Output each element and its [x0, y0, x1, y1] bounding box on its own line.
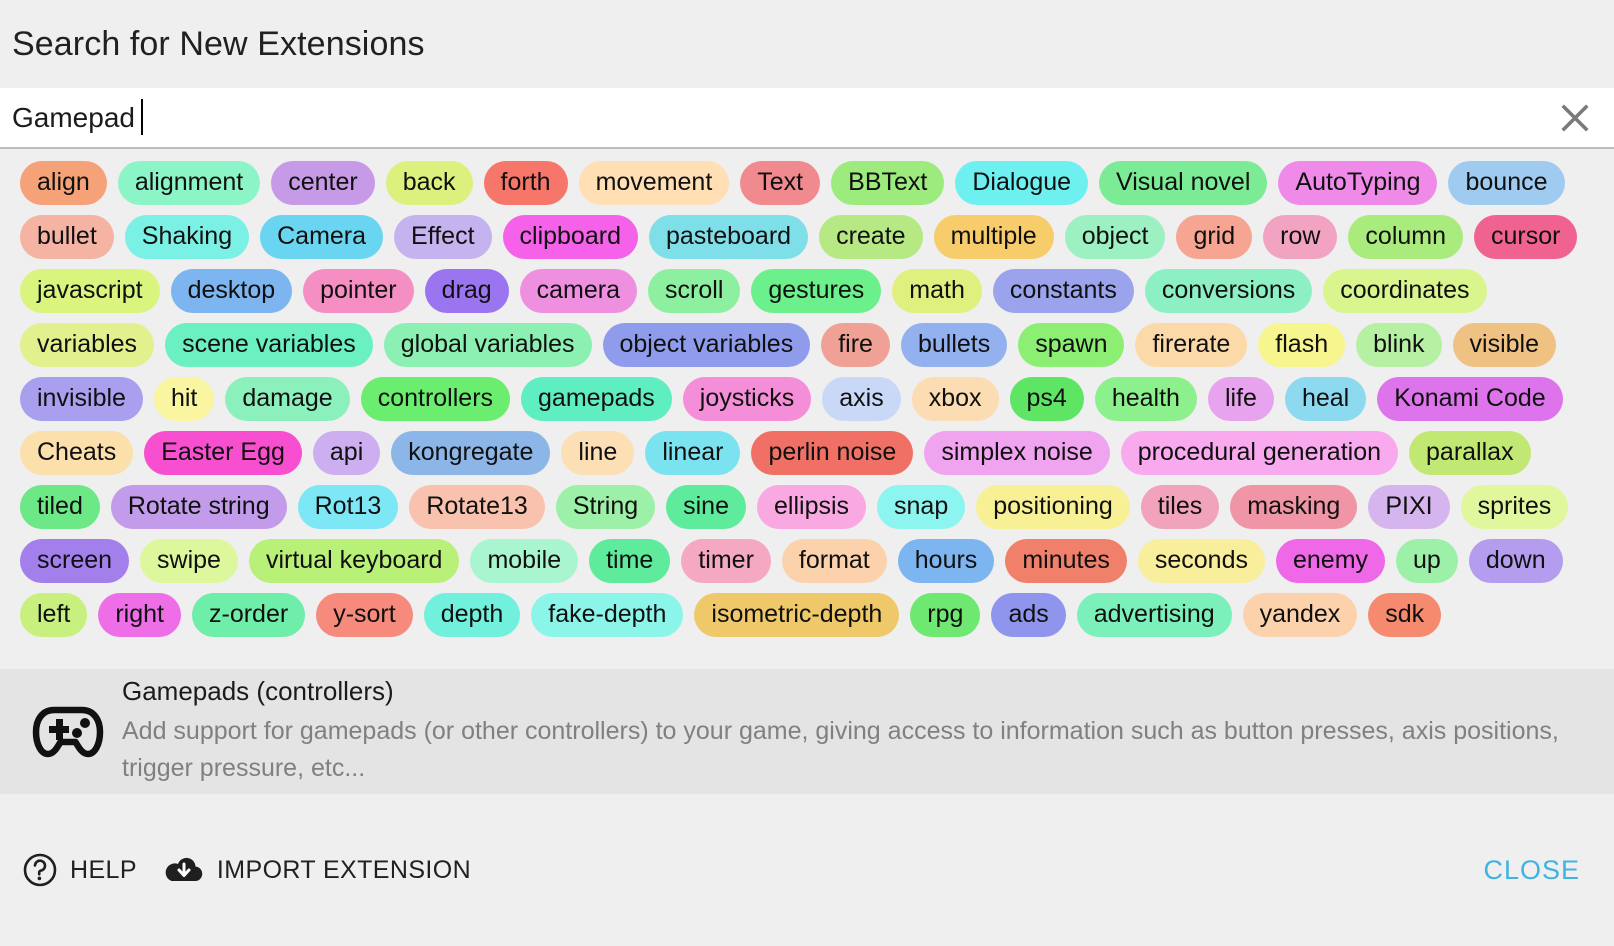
tag-mobile[interactable]: mobile	[470, 539, 578, 583]
tag-down[interactable]: down	[1469, 539, 1563, 583]
tag-simplex-noise[interactable]: simplex noise	[924, 431, 1109, 475]
tag-camera[interactable]: camera	[520, 269, 637, 313]
tag-z-order[interactable]: z-order	[192, 593, 305, 637]
tag-easter-egg[interactable]: Easter Egg	[144, 431, 302, 475]
page-title: Search for New Extensions	[12, 25, 425, 64]
tag-string[interactable]: String	[556, 485, 655, 529]
tag-rotate-string[interactable]: Rotate string	[111, 485, 287, 529]
gamepad-icon	[22, 704, 114, 760]
search-bar	[0, 88, 1614, 149]
tag-y-sort[interactable]: y-sort	[316, 593, 413, 637]
tag-sprites[interactable]: sprites	[1461, 485, 1569, 529]
tag-procedural-generation[interactable]: procedural generation	[1121, 431, 1398, 475]
tag-left[interactable]: left	[20, 593, 87, 637]
tag-isometric-depth[interactable]: isometric-depth	[694, 593, 899, 637]
tag-controllers[interactable]: controllers	[361, 377, 510, 421]
tag-shaking[interactable]: Shaking	[125, 215, 249, 259]
tag-row: javascript desktop pointer drag camera s…	[20, 267, 1604, 314]
dialog-header: Search for New Extensions	[0, 0, 1614, 88]
extension-result-text: Gamepads (controllers) Add support for g…	[114, 676, 1594, 788]
tag-pointer[interactable]: pointer	[303, 269, 413, 313]
tag-create[interactable]: create	[819, 215, 922, 259]
tag-text[interactable]: Text	[740, 161, 820, 205]
tag-back[interactable]: back	[386, 161, 473, 205]
question-circle-icon	[22, 852, 58, 888]
tag-column[interactable]: column	[1348, 215, 1463, 259]
tag-up[interactable]: up	[1396, 539, 1458, 583]
tag-dialogue[interactable]: Dialogue	[955, 161, 1088, 205]
tag-konami-code[interactable]: Konami Code	[1377, 377, 1562, 421]
tag-advertising[interactable]: advertising	[1077, 593, 1232, 637]
tag-perlin-noise[interactable]: perlin noise	[751, 431, 913, 475]
tag-visual-novel[interactable]: Visual novel	[1099, 161, 1267, 205]
tag-cheats[interactable]: Cheats	[20, 431, 133, 475]
tag-hit[interactable]: hit	[154, 377, 214, 421]
tag-row: invisible hit damage controllers gamepad…	[20, 375, 1604, 422]
tag-row: align alignment center back forth moveme…	[20, 159, 1604, 206]
close-button[interactable]: CLOSE	[1479, 849, 1584, 892]
tag-axis[interactable]: axis	[822, 377, 900, 421]
extension-name: Gamepads (controllers)	[122, 676, 1594, 707]
tag-pixi[interactable]: PIXI	[1368, 485, 1449, 529]
tag-movement[interactable]: movement	[579, 161, 730, 205]
tag-line[interactable]: line	[561, 431, 634, 475]
tag-sine[interactable]: sine	[666, 485, 746, 529]
tag-yandex[interactable]: yandex	[1243, 593, 1358, 637]
tag-minutes[interactable]: minutes	[1005, 539, 1127, 583]
tag-rpg[interactable]: rpg	[910, 593, 980, 637]
tag-row: tiled Rotate string Rot13 Rotate13 Strin…	[20, 483, 1604, 530]
tag-rot13[interactable]: Rot13	[298, 485, 399, 529]
tag-effect[interactable]: Effect	[394, 215, 491, 259]
tag-tiled[interactable]: tiled	[20, 485, 100, 529]
search-input-wrap	[12, 88, 1558, 147]
tag-global-variables[interactable]: global variables	[384, 323, 592, 367]
tag-masking[interactable]: masking	[1230, 485, 1357, 529]
tag-row: left right z-order y-sort depth fake-dep…	[20, 591, 1604, 638]
tag-enemy[interactable]: enemy	[1276, 539, 1385, 583]
text-caret	[141, 99, 143, 135]
tag-cloud: align alignment center back forth moveme…	[0, 149, 1614, 669]
tag-firerate[interactable]: firerate	[1135, 323, 1247, 367]
footer-actions: HELP IMPORT EXTENSION	[22, 852, 471, 888]
cloud-download-icon	[163, 854, 205, 886]
tag-seconds[interactable]: seconds	[1138, 539, 1265, 583]
extension-result-item[interactable]: Gamepads (controllers) Add support for g…	[0, 669, 1614, 794]
tag-conversions[interactable]: conversions	[1145, 269, 1312, 313]
tag-spawn[interactable]: spawn	[1018, 323, 1124, 367]
tag-row: bullet Shaking Camera Effect clipboard p…	[20, 213, 1604, 260]
tag-javascript[interactable]: javascript	[20, 269, 160, 313]
tag-bbtext[interactable]: BBText	[831, 161, 944, 205]
search-extensions-dialog: Search for New Extensions align alignmen…	[0, 0, 1614, 946]
tag-row: Cheats Easter Egg api kongregate line li…	[20, 429, 1604, 476]
tag-gamepads[interactable]: gamepads	[521, 377, 672, 421]
tag-ps4[interactable]: ps4	[1010, 377, 1084, 421]
tag-life[interactable]: life	[1208, 377, 1274, 421]
tag-desktop[interactable]: desktop	[171, 269, 293, 313]
tag-variables[interactable]: variables	[20, 323, 154, 367]
tag-linear[interactable]: linear	[645, 431, 740, 475]
tag-cursor[interactable]: cursor	[1474, 215, 1577, 259]
tag-constants[interactable]: constants	[993, 269, 1134, 313]
tag-autotyping[interactable]: AutoTyping	[1278, 161, 1437, 205]
tag-depth[interactable]: depth	[424, 593, 521, 637]
tag-format[interactable]: format	[782, 539, 887, 583]
tag-tiles[interactable]: tiles	[1141, 485, 1219, 529]
tag-damage[interactable]: damage	[225, 377, 349, 421]
tag-invisible[interactable]: invisible	[20, 377, 143, 421]
tag-health[interactable]: health	[1095, 377, 1197, 421]
tag-right[interactable]: right	[98, 593, 181, 637]
tag-sdk[interactable]: sdk	[1368, 593, 1441, 637]
tag-math[interactable]: math	[892, 269, 982, 313]
close-icon[interactable]	[1558, 101, 1592, 135]
tag-fire[interactable]: fire	[821, 323, 890, 367]
tag-heal[interactable]: heal	[1285, 377, 1366, 421]
tag-bullet[interactable]: bullet	[20, 215, 114, 259]
tag-camera-cap[interactable]: Camera	[260, 215, 383, 259]
import-extension-label: IMPORT EXTENSION	[217, 856, 471, 885]
tag-ads[interactable]: ads	[991, 593, 1065, 637]
tag-row-label[interactable]: row	[1263, 215, 1337, 259]
tag-timer[interactable]: timer	[681, 539, 771, 583]
tag-api[interactable]: api	[313, 431, 380, 475]
tag-swipe[interactable]: swipe	[140, 539, 238, 583]
tag-hours[interactable]: hours	[898, 539, 995, 583]
tag-grid[interactable]: grid	[1176, 215, 1252, 259]
tag-blink[interactable]: blink	[1356, 323, 1441, 367]
extension-description: Add support for gamepads (or other contr…	[122, 713, 1594, 788]
help-button[interactable]: HELP	[22, 852, 137, 888]
tag-kongregate[interactable]: kongregate	[391, 431, 550, 475]
tag-object-variables[interactable]: object variables	[603, 323, 811, 367]
import-extension-button[interactable]: IMPORT EXTENSION	[163, 854, 471, 886]
tag-object[interactable]: object	[1065, 215, 1166, 259]
tag-row: screen swipe virtual keyboard mobile tim…	[20, 537, 1604, 584]
tag-gestures[interactable]: gestures	[751, 269, 881, 313]
tag-virtual-keyboard[interactable]: virtual keyboard	[249, 539, 459, 583]
tag-xbox[interactable]: xbox	[912, 377, 999, 421]
tag-clipboard[interactable]: clipboard	[503, 215, 638, 259]
tag-snap[interactable]: snap	[877, 485, 965, 529]
tag-forth[interactable]: forth	[484, 161, 568, 205]
tag-parallax[interactable]: parallax	[1409, 431, 1531, 475]
tag-bounce[interactable]: bounce	[1448, 161, 1564, 205]
tag-center[interactable]: center	[271, 161, 374, 205]
tag-visible[interactable]: visible	[1453, 323, 1556, 367]
tag-align[interactable]: align	[20, 161, 107, 205]
tag-rotate13[interactable]: Rotate13	[409, 485, 544, 529]
search-input[interactable]	[12, 102, 1558, 134]
tag-multiple[interactable]: multiple	[934, 215, 1054, 259]
tag-row: variables scene variables global variabl…	[20, 321, 1604, 368]
tag-bullets[interactable]: bullets	[901, 323, 1007, 367]
dialog-footer: HELP IMPORT EXTENSION CLOSE	[0, 794, 1614, 946]
tag-alignment[interactable]: alignment	[118, 161, 260, 205]
tag-fake-depth[interactable]: fake-depth	[531, 593, 683, 637]
tag-flash[interactable]: flash	[1258, 323, 1345, 367]
tag-coordinates[interactable]: coordinates	[1323, 269, 1486, 313]
tag-screen[interactable]: screen	[20, 539, 129, 583]
help-label: HELP	[70, 856, 137, 885]
tag-scroll[interactable]: scroll	[648, 269, 740, 313]
tag-pasteboard[interactable]: pasteboard	[649, 215, 808, 259]
tag-positioning[interactable]: positioning	[976, 485, 1130, 529]
tag-time[interactable]: time	[589, 539, 670, 583]
tag-scene-variables[interactable]: scene variables	[165, 323, 373, 367]
tag-drag[interactable]: drag	[425, 269, 509, 313]
tag-joysticks[interactable]: joysticks	[683, 377, 811, 421]
tag-ellipsis[interactable]: ellipsis	[757, 485, 866, 529]
